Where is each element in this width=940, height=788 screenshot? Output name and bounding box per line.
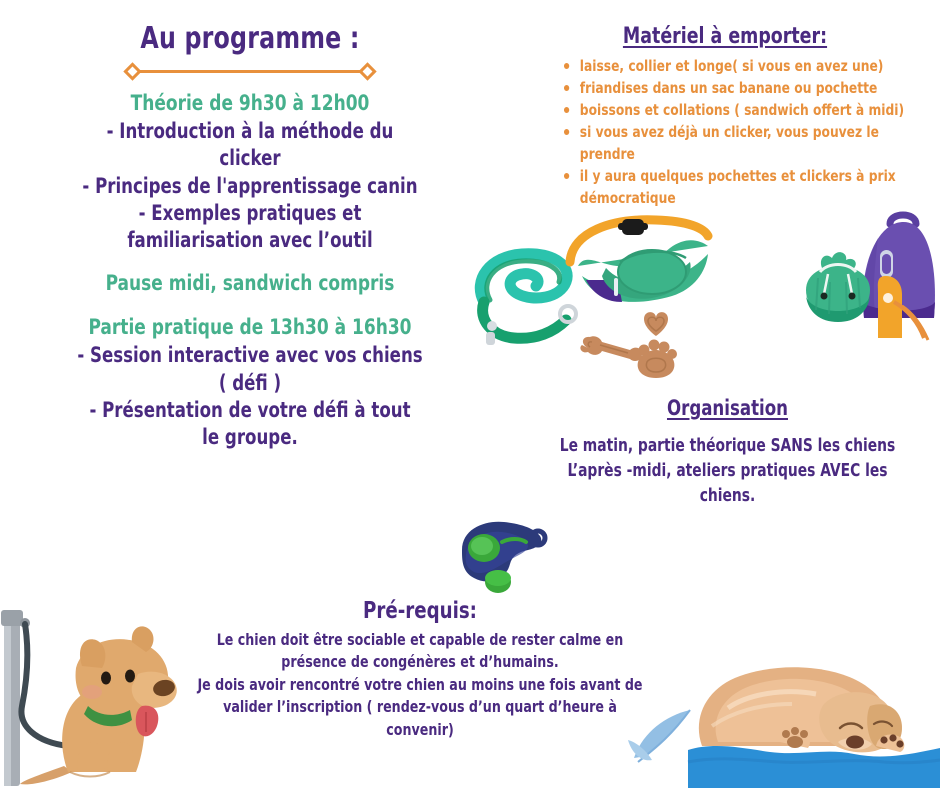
prerequis-line: présence de congénères et d’humains. [191,651,649,673]
divider-bar [135,70,365,73]
sitting-dog-illustration [0,596,211,788]
poster-canvas: Au programme : Théorie de 9h30 à 12h00 -… [0,0,940,788]
fanny-pack-illustration [560,210,710,315]
materiel-column: Matériel à emporter: laisse, collier et … [520,24,930,209]
backpack-illustration [778,198,938,348]
afternoon-heading: Partie pratique de 13h30 à 16h30 [56,314,443,342]
morning-item: - Introduction à la méthode du [56,118,443,145]
break-heading: Pause midi, sandwich compris [56,270,443,298]
prerequis-line: valider l’inscription ( rendez-vous d’un… [191,696,649,741]
prerequis-heading: Pré-requis: [191,598,649,624]
prerequis-section: Pré-requis: Le chien doit être sociable … [160,598,680,741]
organisation-line: chiens. [549,484,905,509]
materiel-heading: Matériel à emporter: [545,24,906,49]
prerequis-line: Le chien doit être sociable et capable d… [191,629,649,651]
list-item: boissons et collations ( sandwich offert… [560,99,905,121]
page-title: Au programme : [56,22,443,55]
morning-heading: Théorie de 9h30 à 12h00 [56,90,443,118]
afternoon-item: - Session interactive avec vos chiens [56,342,443,369]
dog-treats-illustration [576,308,688,382]
morning-item: familiarisation avec l’outil [56,227,443,254]
organisation-heading: Organisation [549,396,905,420]
organisation-line: L’après -midi, ateliers pratiques AVEC l… [549,459,905,484]
materiel-list: laisse, collier et longe( si vous en ave… [545,55,906,209]
list-item: si vous avez déjà un clicker, vous pouve… [560,121,905,165]
afternoon-item: - Présentation de votre défi à tout [56,397,443,424]
list-item: il y aura quelques pochettes et clickers… [560,165,905,187]
morning-item: clicker [56,145,443,172]
prerequis-line: Je dois avoir rencontré votre chien au m… [191,674,649,696]
afternoon-item: ( défi ) [56,370,443,397]
divider-diamond-right-icon [358,62,376,80]
program-title-text: Au programme [140,21,341,56]
morning-item: - Exemples pratiques et [56,200,443,227]
decorative-divider [125,64,375,78]
list-item: friandises dans un sac banane ou pochett… [560,77,905,99]
program-title-suffix: : [341,21,359,56]
spacer [30,254,470,270]
program-column: Au programme : Théorie de 9h30 à 12h00 -… [30,22,470,451]
spacer [30,298,470,314]
organisation-section: Organisation Le matin, partie théorique … [525,396,930,509]
afternoon-item: le groupe. [56,424,443,451]
clicker-illustration [440,508,560,600]
organisation-line: Le matin, partie théorique SANS les chie… [549,434,905,459]
list-item: laisse, collier et longe( si vous en ave… [560,55,905,77]
morning-item: - Principes de l'apprentissage canin [56,173,443,200]
divider-diamond-left-icon [123,62,141,80]
sleeping-dog-illustration [688,650,940,788]
